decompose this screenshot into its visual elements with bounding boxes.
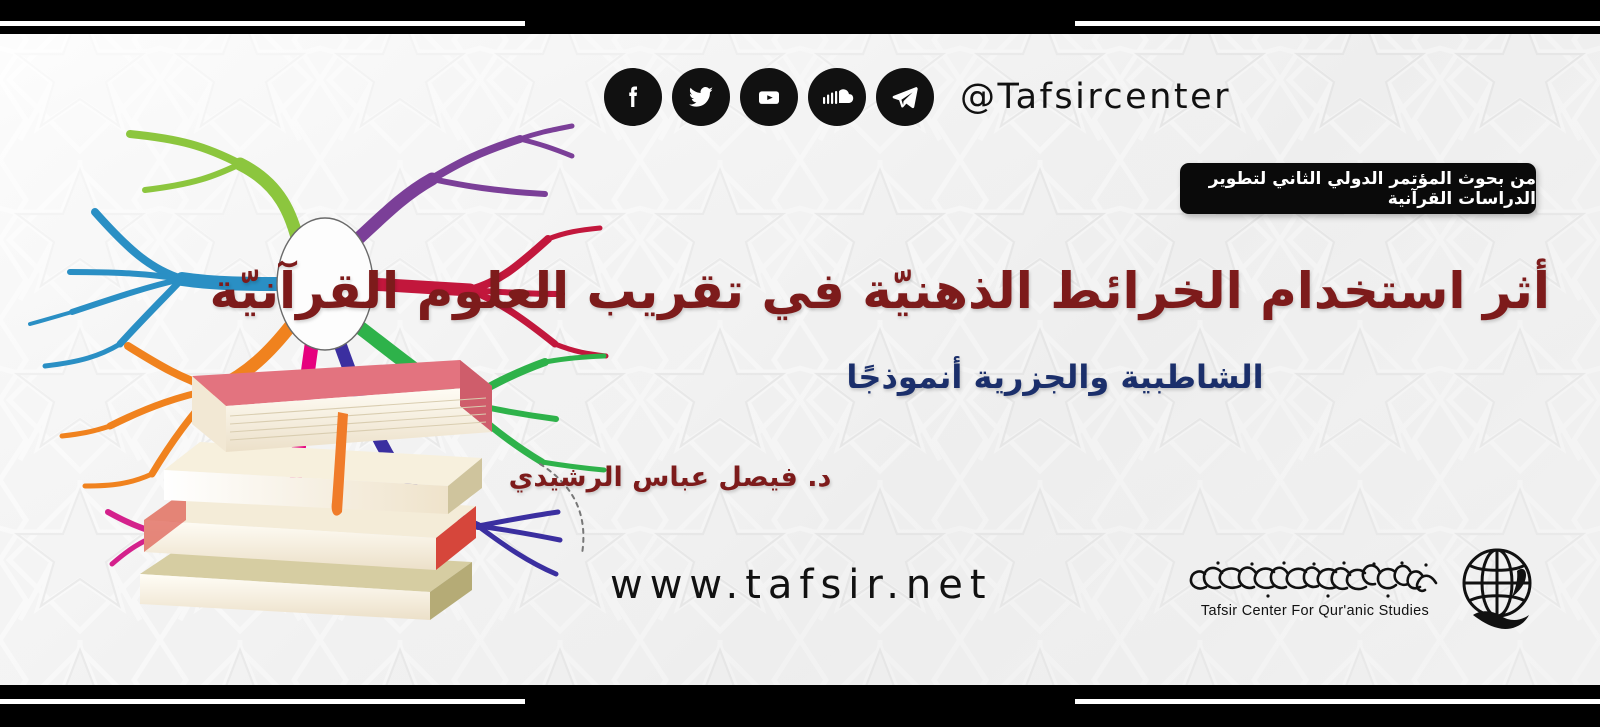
youtube-icon[interactable] (740, 68, 798, 126)
top-frame-stripe-right (1075, 21, 1600, 26)
author-name: د. فيصل عباس الرشيدي (420, 462, 920, 493)
facebook-icon[interactable] (604, 68, 662, 126)
tafsir-center-logo[interactable]: Tafsir Center For Qur'anic Studies (1185, 540, 1555, 632)
logo-arabic-calligraphy (1188, 553, 1443, 601)
social-handle: @Tafsircenter (960, 77, 1231, 117)
bottom-frame-stripe-left (0, 699, 525, 704)
mindmap-branch-green-top (130, 134, 300, 249)
social-links-row[interactable]: @Tafsircenter (604, 66, 1231, 128)
conference-badge: من بحوث المؤتمر الدولي الثاني لتطوير الد… (1180, 163, 1536, 214)
mindmap-books-artwork (0, 34, 610, 674)
bottom-frame-stripe-right (1075, 699, 1600, 704)
logo-text-block: Tafsir Center For Qur'anic Studies (1185, 553, 1445, 619)
telegram-icon[interactable] (876, 68, 934, 126)
website-url[interactable]: www.tafsir.net (610, 562, 993, 608)
twitter-icon[interactable] (672, 68, 730, 126)
page-title: أثر استخدام الخرائط الذهنيّة في تقريب ال… (560, 262, 1550, 321)
conference-banner: @Tafsircenter من بحوث المؤتمر الدولي الث… (0, 0, 1600, 727)
mindmap-branch-purple (358, 126, 572, 239)
globe-icon (1451, 541, 1547, 631)
soundcloud-icon[interactable] (808, 68, 866, 126)
logo-english-name: Tafsir Center For Qur'anic Studies (1201, 603, 1429, 619)
top-frame-bar (0, 0, 1600, 34)
page-subtitle: الشاطبية والجزرية أنموذجًا (560, 358, 1550, 396)
top-frame-stripe-left (0, 21, 525, 26)
bottom-frame-bar (0, 685, 1600, 727)
